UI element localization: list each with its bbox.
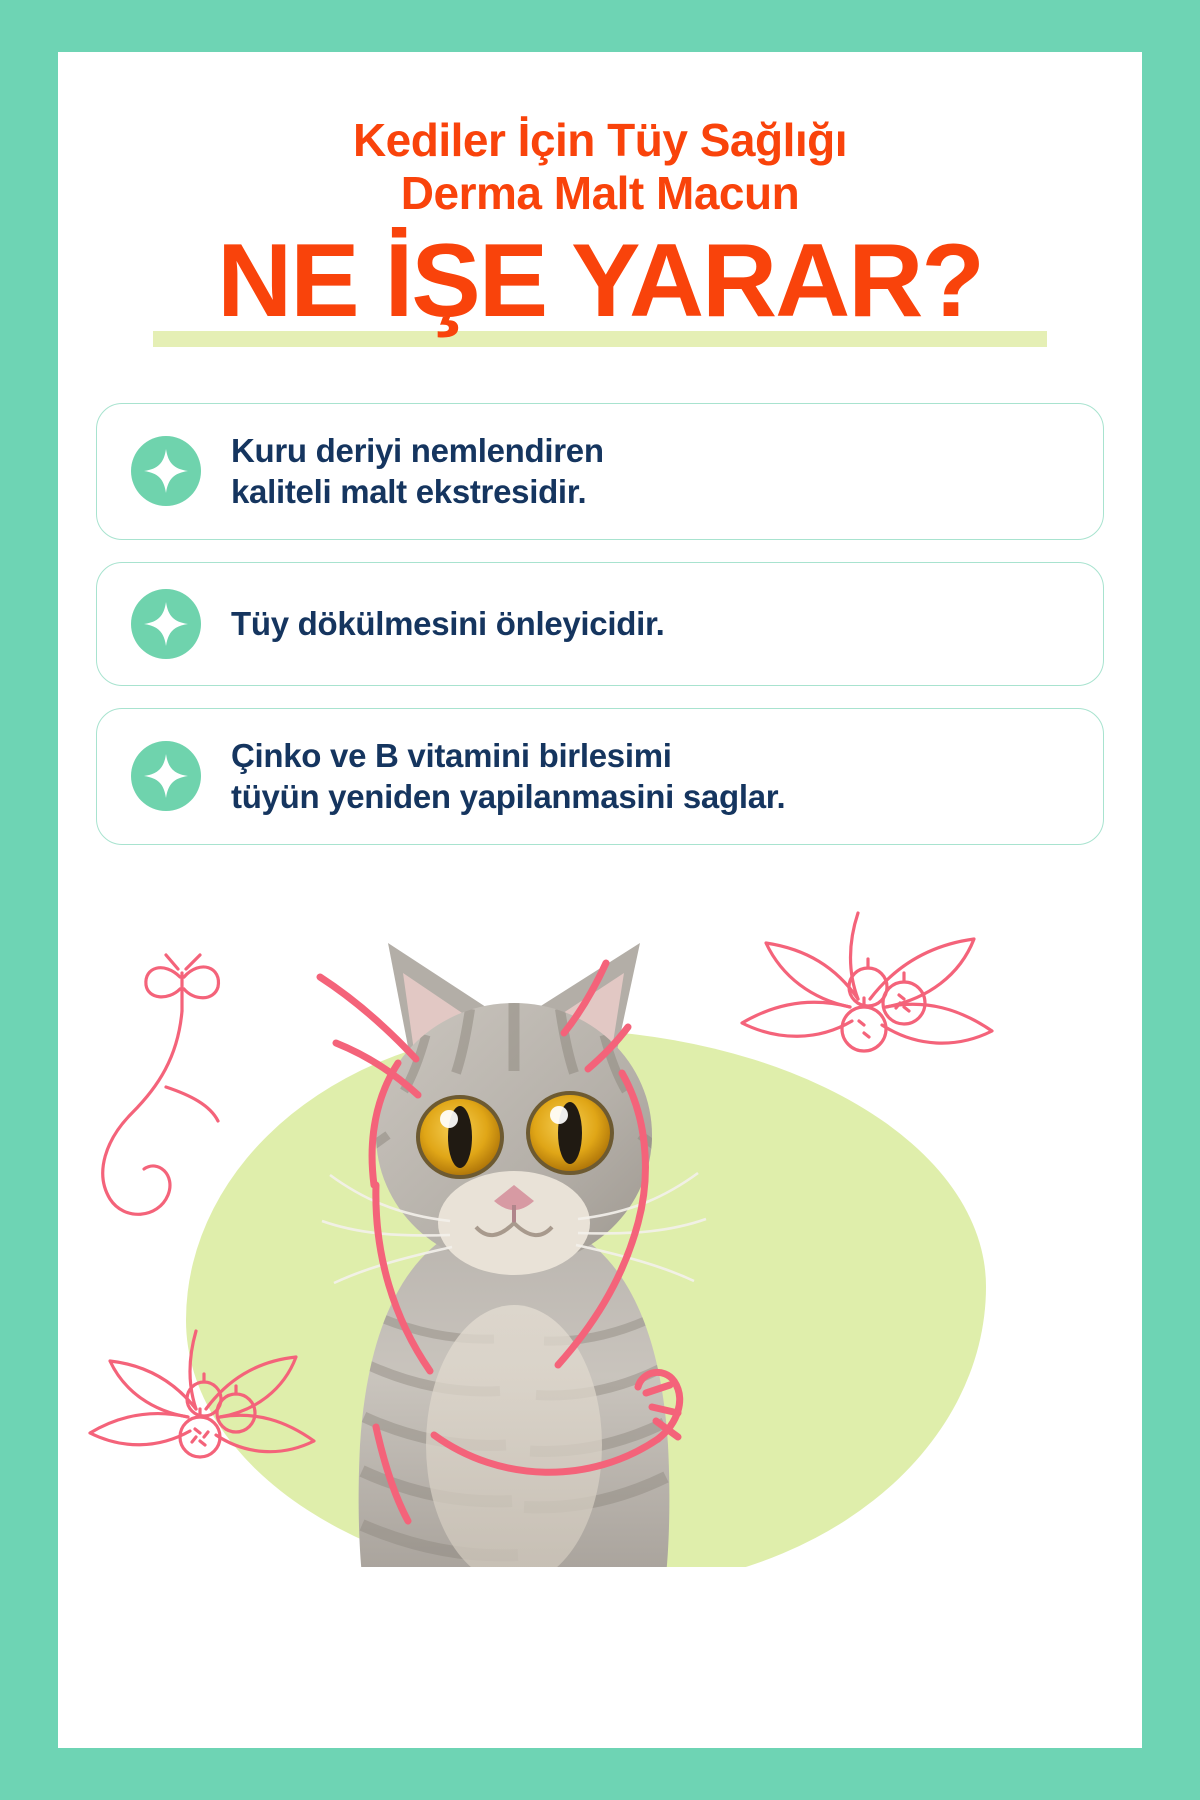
feature-card-1-text: Kuru deriyi nemlendiren kaliteli malt ek… — [231, 430, 604, 513]
feature-card-1[interactable]: Kuru deriyi nemlendiren kaliteli malt ek… — [96, 403, 1104, 540]
feature-card-3-text: Çinko ve B vitamini birlesimi tüyün yeni… — [231, 735, 785, 818]
feature-card-3[interactable]: Çinko ve B vitamini birlesimi tüyün yeni… — [96, 708, 1104, 845]
feature-card-2[interactable]: Tüy dökülmesini önleyicidir. — [96, 562, 1104, 686]
sparkle-icon — [131, 741, 201, 811]
sparkle-icon — [131, 589, 201, 659]
headline-wrap: NE İŞE YARAR? — [58, 229, 1142, 333]
poster-panel: Kediler İçin Tüy Sağlığı Derma Malt Macu… — [58, 52, 1142, 1748]
page-title: NE İŞE YARAR? — [58, 229, 1142, 333]
sparkle-icon — [131, 436, 201, 506]
cat-photo — [264, 885, 764, 1567]
eyebrow-line-2: Derma Malt Macun — [58, 167, 1142, 220]
illustration-area — [58, 867, 1142, 1567]
feature-card-2-text: Tüy dökülmesini önleyicidir. — [231, 603, 665, 645]
header: Kediler İçin Tüy Sağlığı Derma Malt Macu… — [58, 52, 1142, 333]
eyebrow-line-1: Kediler İçin Tüy Sağlığı — [58, 114, 1142, 167]
feature-card-list: Kuru deriyi nemlendiren kaliteli malt ek… — [58, 403, 1142, 845]
